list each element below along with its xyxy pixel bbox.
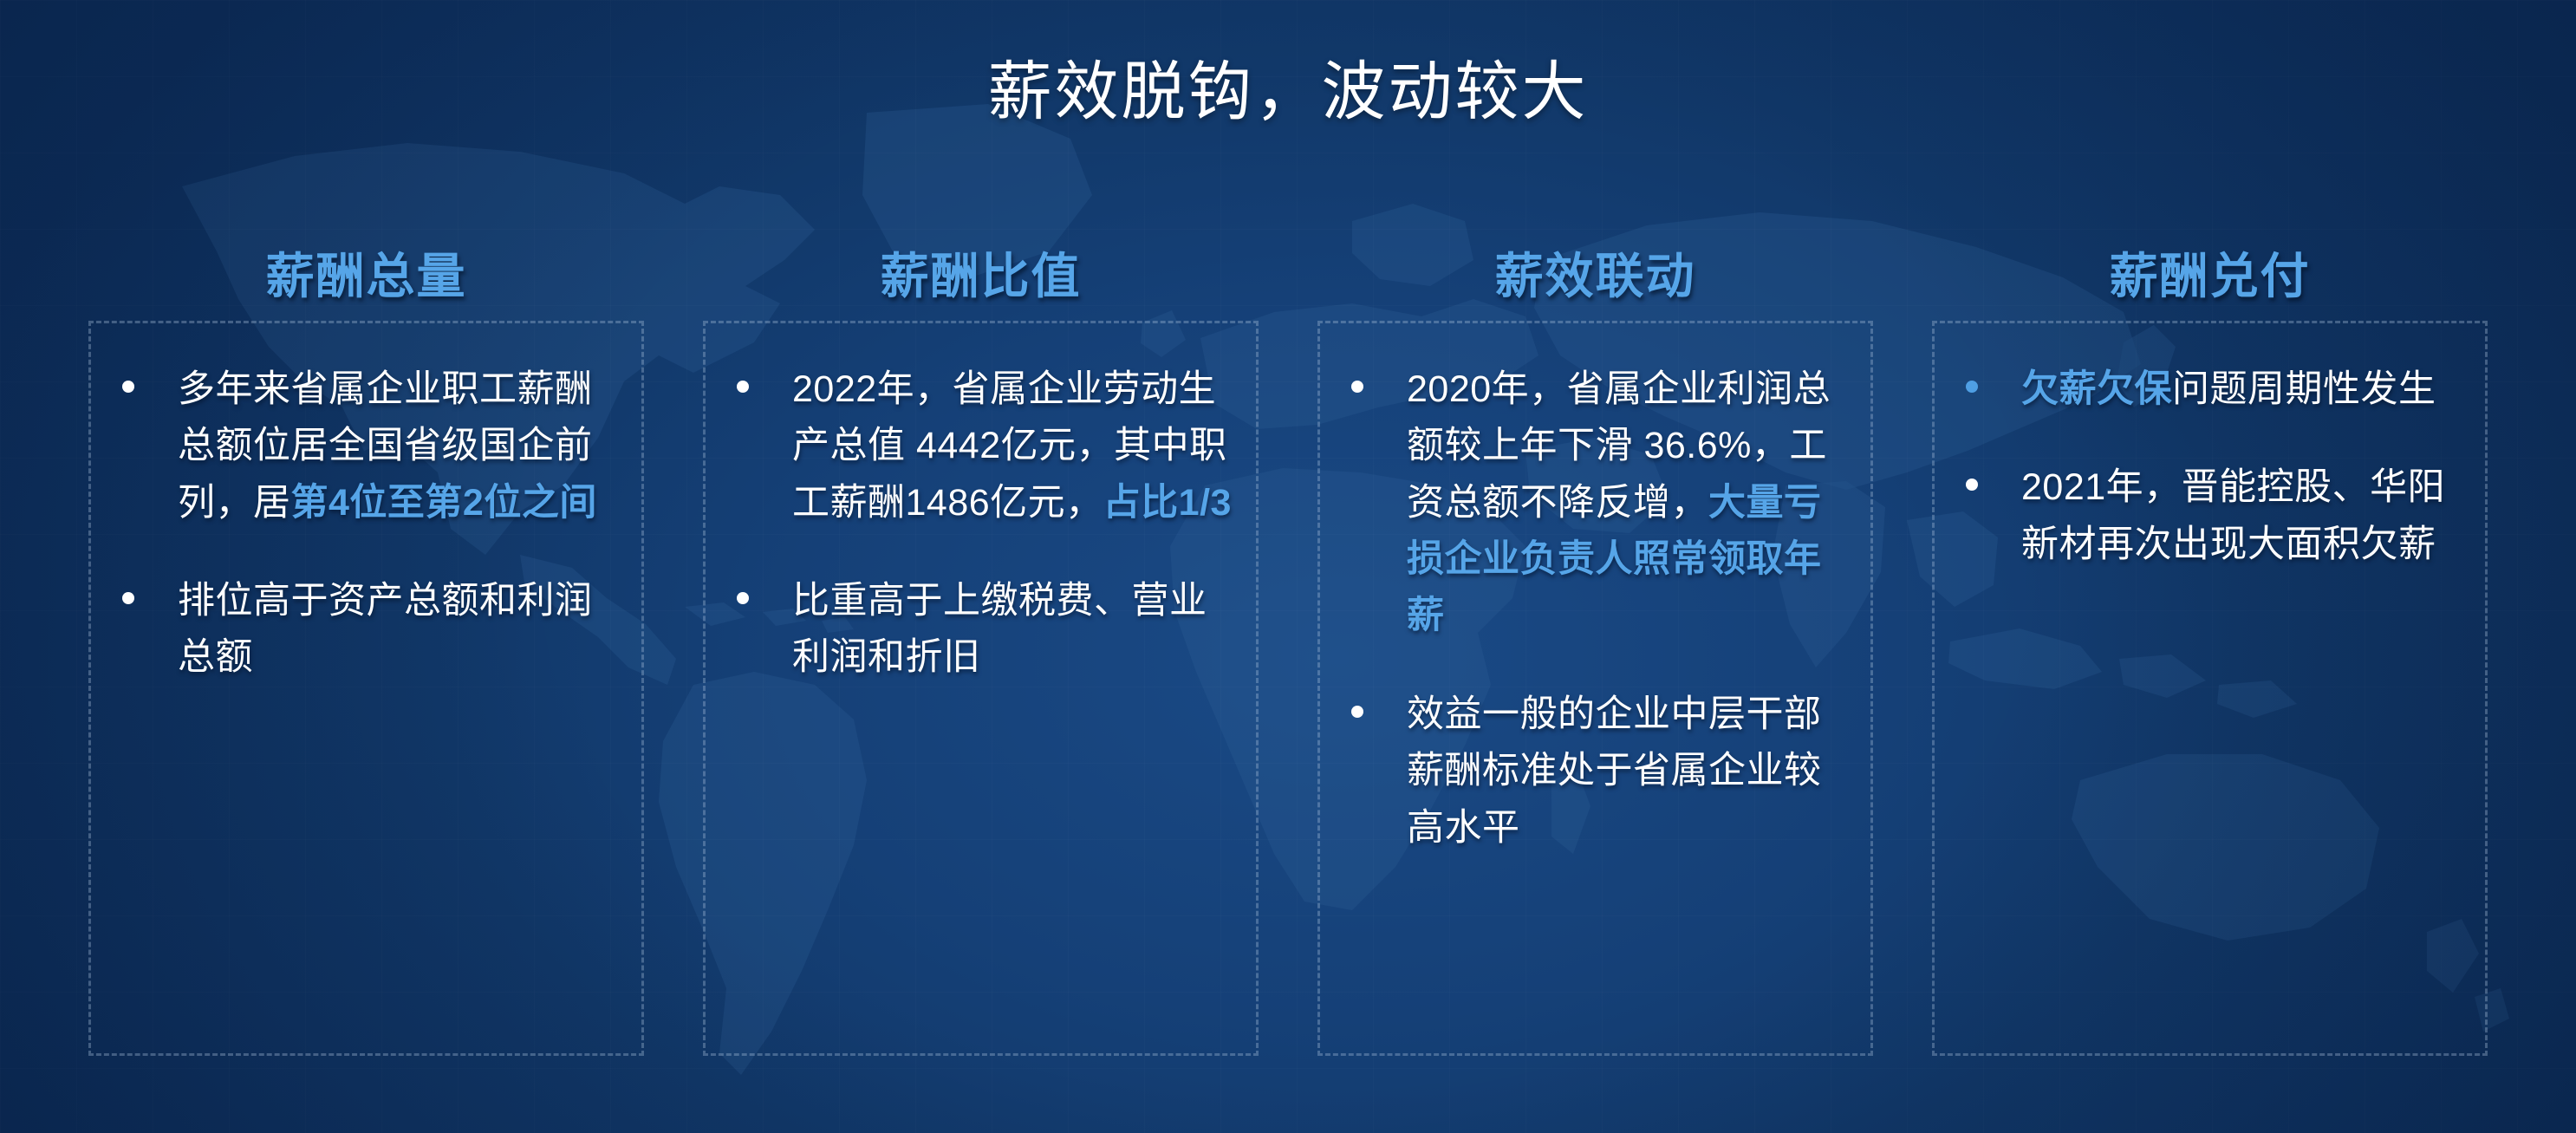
bullet-list-2: 2022年，省属企业劳动生产总值 4442亿元，其中职工薪酬1486亿元，占比1… (725, 361, 1240, 687)
column-box-1: 多年来省属企业职工薪酬总额位居全国省级国企前列，居第4位至第2位之间 排位高于资… (88, 321, 644, 1056)
column-box-2: 2022年，省属企业劳动生产总值 4442亿元，其中职工薪酬1486亿元，占比1… (703, 321, 1259, 1056)
list-item: 效益一般的企业中层干部薪酬标准处于省属企业较高水平 (1339, 687, 1855, 856)
column-header-4: 薪酬兑付 (1932, 224, 2488, 321)
plain-text: 问题周期性发生 (2172, 368, 2436, 410)
bullet-text: 2022年，省属企业劳动生产总值 4442亿元，其中职工薪酬1486亿元，占比1… (792, 368, 1232, 524)
bullet-dot-icon (737, 592, 749, 604)
column-salary-total: 薪酬总量 多年来省属企业职工薪酬总额位居全国省级国企前列，居第4位至第2位之间 … (88, 224, 644, 1056)
list-item: 排位高于资产总额和利润总额 (110, 573, 626, 687)
column-header-2: 薪酬比值 (703, 224, 1259, 321)
column-salary-payment: 薪酬兑付 欠薪欠保问题周期性发生 2021年，晋能控股、华阳新材再次出现大面积欠… (1932, 224, 2488, 1056)
highlighted-text: 占比1/3 (1103, 482, 1232, 524)
column-pay-performance-link: 薪效联动 2020年，省属企业利润总额较上年下滑 36.6%，工资总额不降反增，… (1317, 224, 1873, 1056)
column-header-1: 薪酬总量 (88, 224, 644, 321)
bullet-text: 欠薪欠保问题周期性发生 (2021, 368, 2436, 410)
bullet-dot-icon (1351, 381, 1363, 393)
bullet-dot-icon (1966, 381, 1978, 393)
list-item: 2020年，省属企业利润总额较上年下滑 36.6%，工资总额不降反增，大量亏损企… (1339, 361, 1855, 645)
bullet-dot-icon (122, 381, 134, 393)
column-salary-ratio: 薪酬比值 2022年，省属企业劳动生产总值 4442亿元，其中职工薪酬1486亿… (703, 224, 1259, 1056)
bullet-dot-icon (1351, 706, 1363, 718)
bullet-text: 排位高于资产总额和利润总额 (178, 580, 593, 678)
column-box-3: 2020年，省属企业利润总额较上年下滑 36.6%，工资总额不降反增，大量亏损企… (1317, 321, 1873, 1056)
plain-text: 排位高于资产总额和利润总额 (178, 580, 593, 678)
highlighted-text: 欠薪欠保 (2021, 368, 2172, 410)
page-title: 薪效脱钩，波动较大 (0, 40, 2576, 133)
bullet-text: 多年来省属企业职工薪酬总额位居全国省级国企前列，居第4位至第2位之间 (178, 368, 597, 524)
bullet-list-3: 2020年，省属企业利润总额较上年下滑 36.6%，工资总额不降反增，大量亏损企… (1339, 361, 1855, 856)
list-item: 比重高于上缴税费、营业利润和折旧 (725, 573, 1240, 687)
bullet-text: 比重高于上缴税费、营业利润和折旧 (792, 580, 1207, 678)
bullet-dot-icon (737, 381, 749, 393)
plain-text: 效益一般的企业中层干部薪酬标准处于省属企业较高水平 (1407, 693, 1822, 849)
column-header-3: 薪效联动 (1317, 224, 1873, 321)
bullet-text: 2021年，晋能控股、华阳新材再次出现大面积欠薪 (2021, 466, 2445, 564)
bullet-text: 效益一般的企业中层干部薪酬标准处于省属企业较高水平 (1407, 693, 1822, 849)
bullet-list-4: 欠薪欠保问题周期性发生 2021年，晋能控股、华阳新材再次出现大面积欠薪 (1954, 361, 2469, 573)
list-item: 2022年，省属企业劳动生产总值 4442亿元，其中职工薪酬1486亿元，占比1… (725, 361, 1240, 531)
bullet-list-1: 多年来省属企业职工薪酬总额位居全国省级国企前列，居第4位至第2位之间 排位高于资… (110, 361, 626, 687)
bullet-dot-icon (122, 592, 134, 604)
list-item: 欠薪欠保问题周期性发生 (1954, 361, 2469, 418)
plain-text: 2021年，晋能控股、华阳新材再次出现大面积欠薪 (2021, 466, 2445, 564)
highlighted-text: 第4位至第2位之间 (291, 482, 597, 524)
bullet-text: 2020年，省属企业利润总额较上年下滑 36.6%，工资总额不降反增，大量亏损企… (1407, 368, 1831, 636)
plain-text: 比重高于上缴税费、营业利润和折旧 (792, 580, 1207, 678)
columns-container: 薪酬总量 多年来省属企业职工薪酬总额位居全国省级国企前列，居第4位至第2位之间 … (59, 224, 2517, 1056)
column-box-4: 欠薪欠保问题周期性发生 2021年，晋能控股、华阳新材再次出现大面积欠薪 (1932, 321, 2488, 1056)
list-item: 多年来省属企业职工薪酬总额位居全国省级国企前列，居第4位至第2位之间 (110, 361, 626, 531)
bullet-dot-icon (1966, 479, 1978, 491)
list-item: 2021年，晋能控股、华阳新材再次出现大面积欠薪 (1954, 459, 2469, 573)
